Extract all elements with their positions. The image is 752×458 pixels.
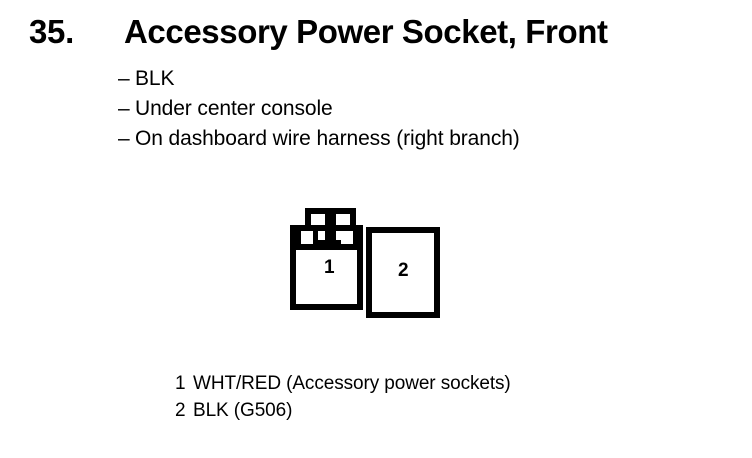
- connector-cavity-label-2: 2: [398, 261, 409, 280]
- legend-pin-number: 2: [175, 397, 193, 424]
- dash-icon: –: [118, 64, 135, 94]
- note-item: – BLK: [118, 64, 678, 94]
- legend-pin-description: BLK (G506): [193, 397, 292, 424]
- note-item: – On dashboard wire harness (right branc…: [118, 124, 678, 154]
- dash-icon: –: [118, 124, 135, 154]
- pin-legend: 1 WHT/RED (Accessory power sockets) 2 BL…: [175, 370, 695, 424]
- note-text: BLK: [135, 64, 174, 94]
- page-title: Accessory Power Socket, Front: [124, 12, 608, 52]
- connector-latch-throat-stem-icon: [325, 231, 336, 240]
- note-item: – Under center console: [118, 94, 678, 124]
- page-header: 35. Accessory Power Socket, Front: [0, 12, 752, 58]
- note-text: On dashboard wire harness (right branch): [135, 124, 520, 154]
- legend-pin-description: WHT/RED (Accessory power sockets): [193, 370, 511, 397]
- legend-row: 2 BLK (G506): [175, 397, 695, 424]
- legend-row: 1 WHT/RED (Accessory power sockets): [175, 370, 695, 397]
- legend-pin-number: 1: [175, 370, 193, 397]
- note-text: Under center console: [135, 94, 333, 124]
- connector-notch-left-icon: [301, 231, 313, 244]
- connector-diagram: 1 2: [285, 205, 455, 320]
- dash-icon: –: [118, 94, 135, 124]
- item-number: 35.: [29, 12, 74, 52]
- notes-list: – BLK – Under center console – On dashbo…: [118, 64, 678, 154]
- connector-cavity-label-1: 1: [324, 258, 335, 277]
